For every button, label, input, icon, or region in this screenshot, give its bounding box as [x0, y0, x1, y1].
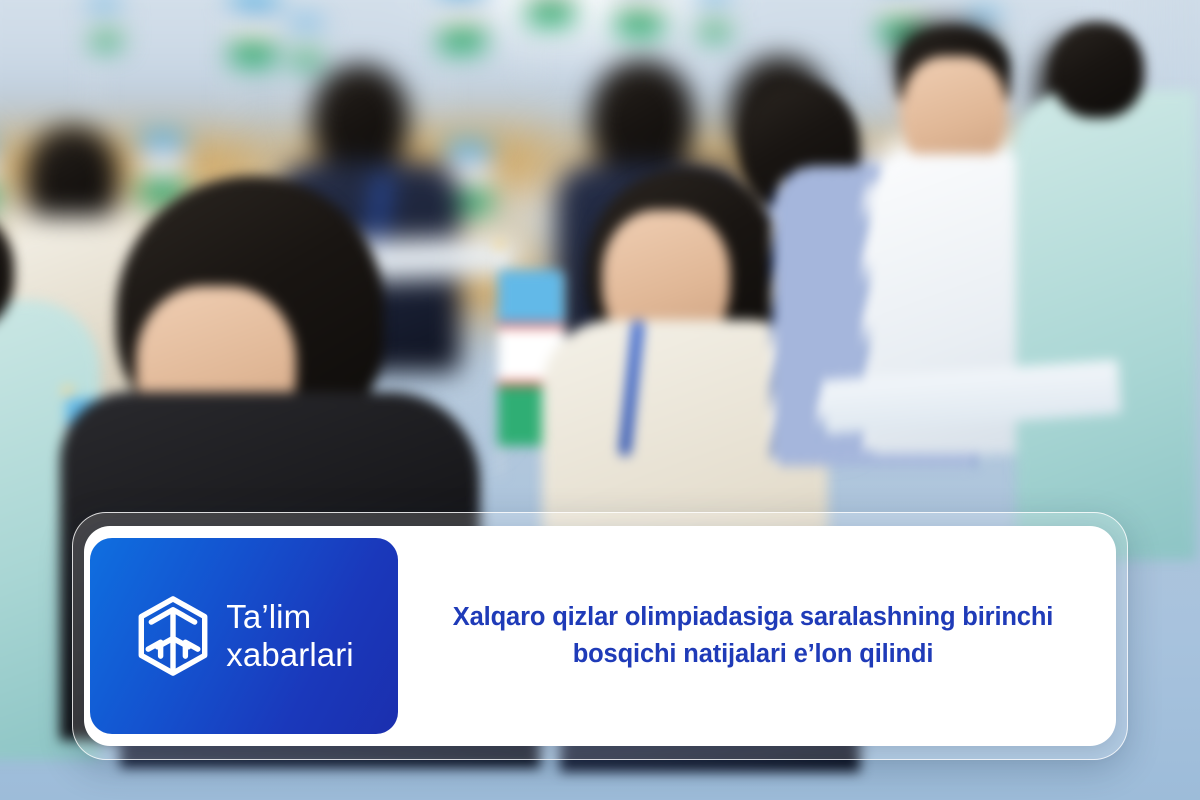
student-body-foreground [1016, 90, 1196, 560]
brand-name-line-2: xabarlari [226, 636, 353, 673]
student-head-foreground [1052, 22, 1144, 118]
headline-container: Xalqaro qizlar olimpiadasiga saralashnin… [398, 526, 1116, 746]
headline-text: Xalqaro qizlar olimpiadasiga saralashnin… [416, 599, 1090, 672]
screenshot-stage: Ta’lim xabarlari Xalqaro qizlar olimpiad… [0, 0, 1200, 800]
brand-name: Ta’lim xabarlari [226, 598, 353, 673]
news-card[interactable]: Ta’lim xabarlari Xalqaro qizlar olimpiad… [84, 526, 1116, 746]
brand-name-line-1: Ta’lim [226, 598, 311, 635]
cube-hexagon-logo-icon [134, 595, 212, 677]
brand-panel[interactable]: Ta’lim xabarlari [90, 538, 398, 734]
